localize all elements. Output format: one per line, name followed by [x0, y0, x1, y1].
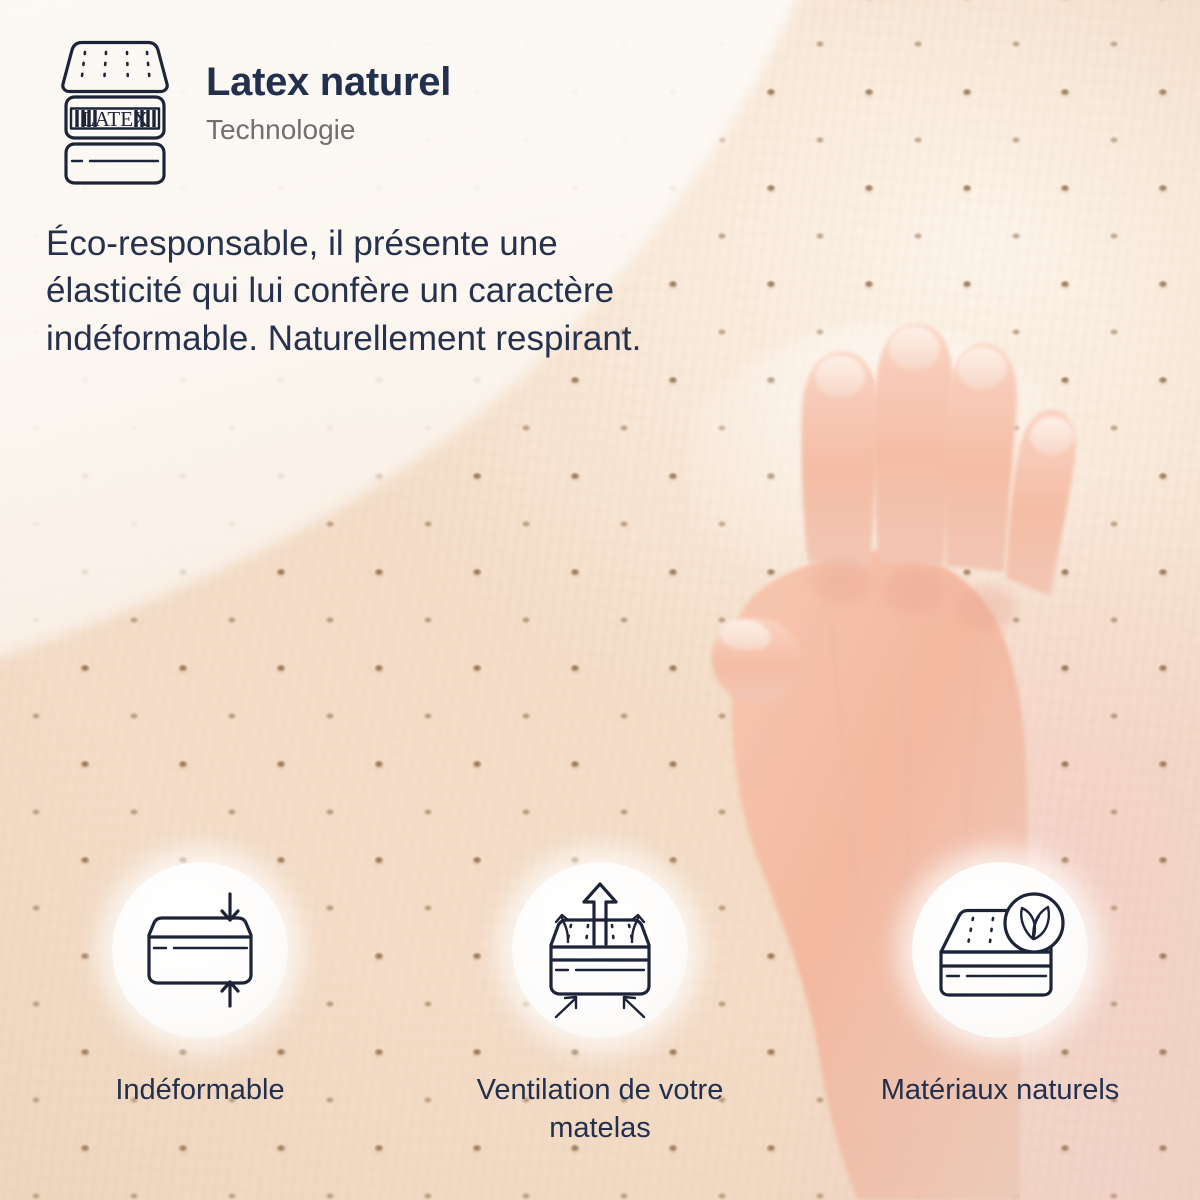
mattress-ventilation-icon — [512, 862, 688, 1038]
feature-row: Indéformable — [0, 862, 1200, 1147]
page-subtitle: Technologie — [206, 116, 451, 144]
mattress-compression-icon — [112, 862, 288, 1038]
feature-item-ventilation: Ventilation de votre matelas — [400, 862, 800, 1147]
mattress-natural-leaf-icon — [912, 862, 1088, 1038]
feature-item-natural-materials: Matériaux naturels — [800, 862, 1200, 1147]
description-paragraph: Éco-responsable, il présente une élastic… — [46, 220, 686, 362]
feature-label: Indéformable — [35, 1072, 365, 1110]
latex-layer-label: LATEX — [82, 107, 149, 131]
feature-label: Ventilation de votre matelas — [435, 1072, 765, 1147]
feature-label: Matériaux naturels — [835, 1072, 1165, 1110]
page-title: Latex naturel — [206, 62, 451, 102]
feature-item-indeformable: Indéformable — [0, 862, 400, 1147]
description-text: Éco-responsable, il présente une élastic… — [46, 220, 686, 362]
latex-technology-infographic: LATEX Latex naturel Technologie Éco-resp… — [0, 0, 1200, 1200]
header: LATEX Latex naturel Technologie — [46, 36, 451, 188]
latex-mattress-layers-icon: LATEX — [46, 36, 184, 188]
